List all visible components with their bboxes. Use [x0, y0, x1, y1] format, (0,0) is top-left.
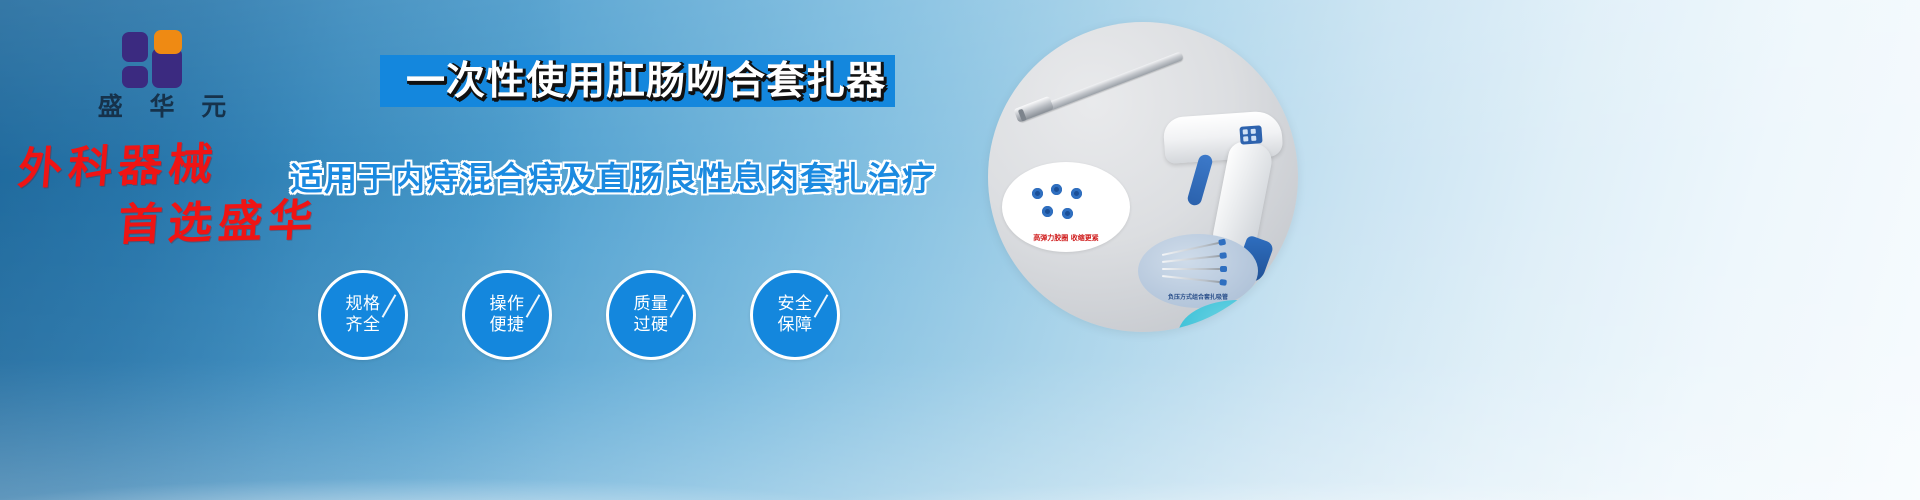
- logo-square-top-left: [122, 32, 148, 62]
- feature-label-line1: 质量: [634, 294, 669, 315]
- feature-badge[interactable]: 质量 过硬: [606, 270, 696, 360]
- feature-label-line1: 操作: [490, 294, 525, 315]
- feature-badge[interactable]: 操作 便捷: [462, 270, 552, 360]
- subtitle: 适用于内痔混合痔及直肠良性息肉套扎治疗: [290, 158, 910, 200]
- company-name: 盛 华 元: [62, 94, 262, 119]
- needle-icon: [1162, 241, 1223, 256]
- logo-square-bottom-left: [122, 66, 148, 88]
- feature-label-line1: 安全: [778, 294, 813, 315]
- needle-icon: [1162, 255, 1224, 263]
- slash-accent-icon: [526, 294, 541, 318]
- cartridge-icon: [1198, 320, 1281, 332]
- sheng-hua-yuan-logo-icon: [120, 28, 204, 88]
- brand-logo-block[interactable]: 盛 华 元: [62, 28, 262, 119]
- feature-badge-list: 规格 齐全 操作 便捷 质量 过硬 安全 保障: [318, 270, 840, 360]
- slash-accent-icon: [382, 294, 397, 318]
- needle-icon: [1162, 275, 1224, 283]
- page-title: 一次性使用肛肠吻合套扎器: [386, 54, 906, 110]
- inset-rubber-bands: 高弹力胶圈 收缩更紧: [1002, 162, 1130, 252]
- needle-icon: [1162, 268, 1224, 270]
- product-photo: 高弹力胶圈 收缩更紧 负压方式组合套扎吸管: [988, 22, 1298, 332]
- inset-needles: 负压方式组合套扎吸管: [1138, 234, 1258, 308]
- inset-bands-caption: 高弹力胶圈 收缩更紧: [1002, 233, 1130, 243]
- slogan-line-2: 首选盛华: [116, 196, 440, 248]
- bottom-wave-decoration: [0, 410, 1920, 500]
- slash-accent-icon: [814, 294, 829, 318]
- rubber-band-dots-icon: [1032, 184, 1100, 224]
- feature-label-line2: 便捷: [490, 315, 525, 336]
- logo-square-right: [152, 48, 182, 88]
- slash-accent-icon: [670, 294, 685, 318]
- feature-label-line2: 过硬: [634, 315, 669, 336]
- feature-label-line2: 齐全: [346, 315, 381, 336]
- background-sheen: [0, 0, 1920, 500]
- promo-banner: 盛 华 元 外科器械 首选盛华 一次性使用肛肠吻合套扎器 适用于内痔混合痔及直肠…: [0, 0, 1920, 500]
- feature-label-line1: 规格: [346, 294, 381, 315]
- device-button-pad: [1239, 125, 1262, 144]
- logo-square-orange: [154, 30, 182, 54]
- feature-badge[interactable]: 规格 齐全: [318, 270, 408, 360]
- feature-badge[interactable]: 安全 保障: [750, 270, 840, 360]
- feature-label-line2: 保障: [778, 315, 813, 336]
